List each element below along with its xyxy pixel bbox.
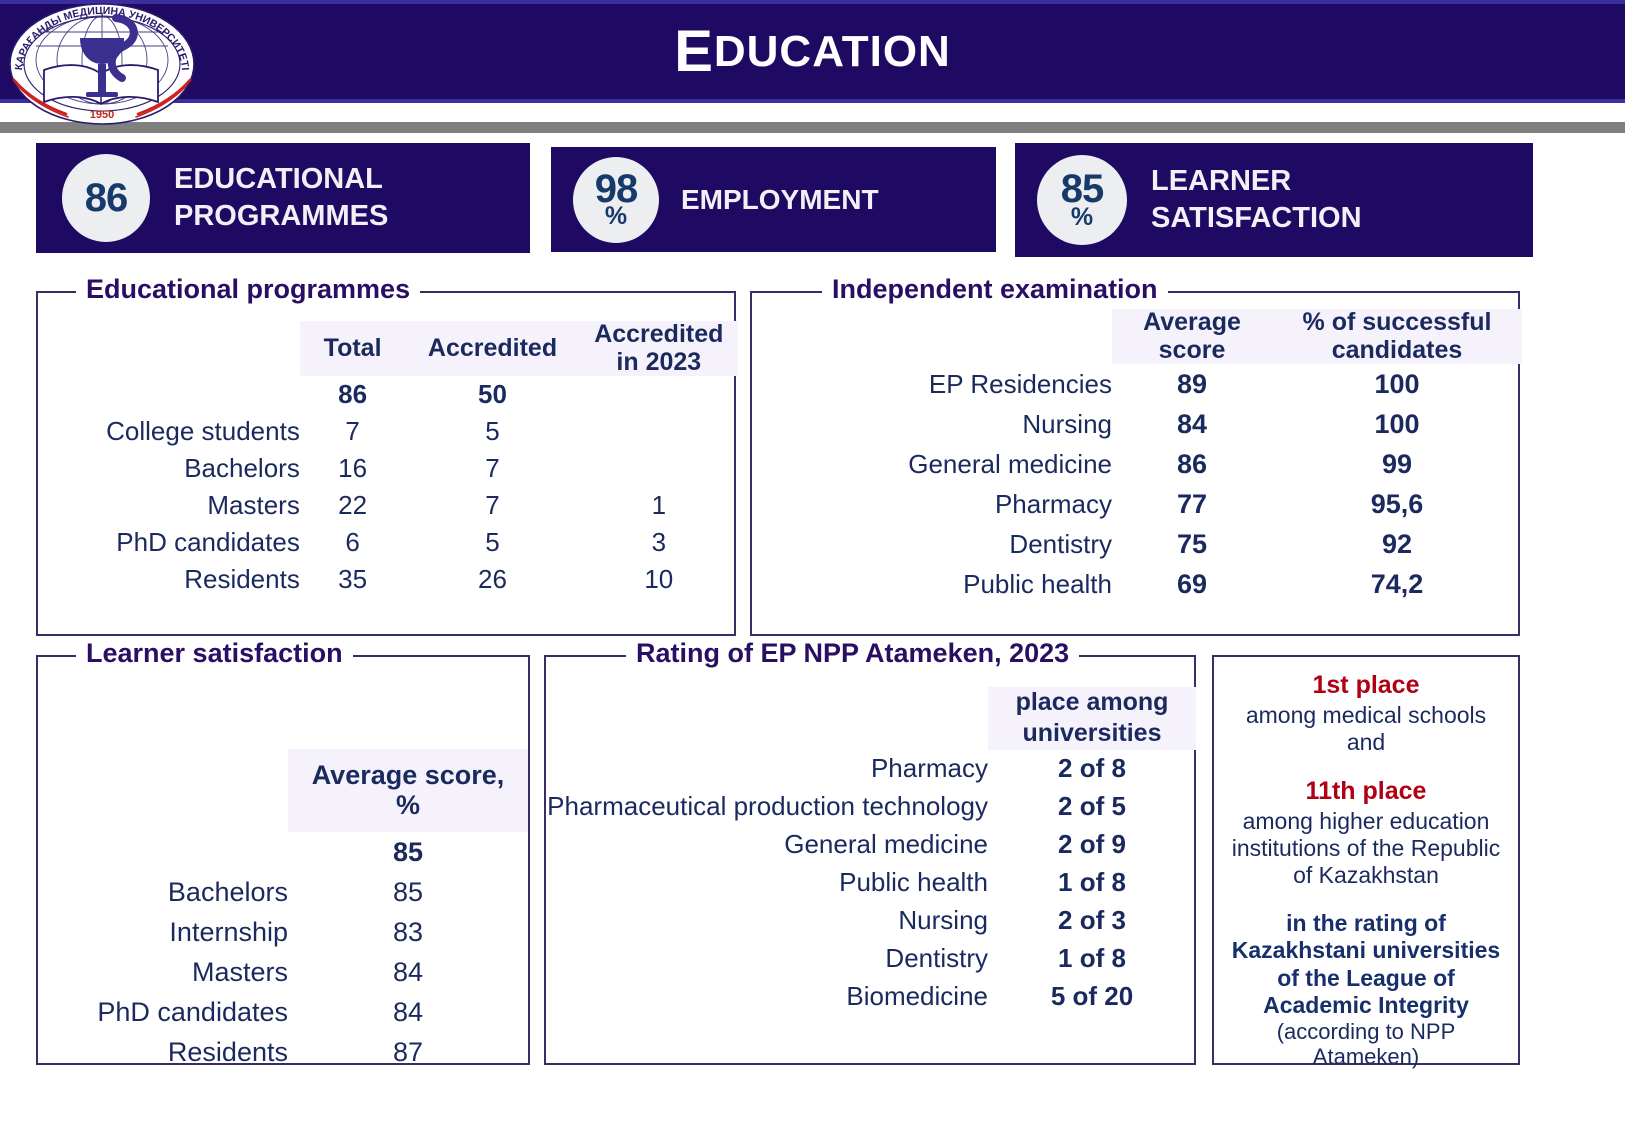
row-label: Bachelors [38,872,288,912]
cell-accredited: 7 [405,450,579,487]
row-label: Residents [38,1032,288,1072]
kpi-employment: 98 % EMPLOYMENT [551,147,996,252]
cell-place: 5 of 20 [988,978,1196,1016]
table-row-total: 86 50 [38,376,738,413]
kpi-label-line2: PROGRAMMES [174,198,388,235]
kpi-unit: % [1071,206,1093,229]
row-label: Public health [752,564,1112,604]
cell-place: 2 of 3 [988,902,1196,940]
header-place-line2: universities [988,718,1196,749]
table-row: PhD candidates 84 [38,992,528,1032]
table-row: General medicine 2 of 9 [546,826,1196,864]
rating-source-bold: in the rating of Kazakhstani universitie… [1224,910,1508,1019]
kpi-label-line1: EDUCATIONAL [174,161,388,198]
table-row: PhD candidates 6 5 3 [38,524,738,561]
row-label: Biomedicine [546,978,988,1016]
cell-pct-successful: 100 [1272,404,1522,444]
learner-satisfaction-table-wrap: Average score, % 85 Bachelors 85 Interns… [38,749,528,1072]
table-row: Biomedicine 5 of 20 [546,978,1196,1016]
cell-average-score: 69 [1112,564,1272,604]
eleventh-place-subtext: among higher education institutions of t… [1224,808,1508,888]
table-row: EP Residencies 89 100 [752,364,1522,404]
cell-average-score: 84 [1112,404,1272,444]
spacer [1224,888,1508,910]
header-place-line1: place among [988,687,1196,718]
first-place-subtext: among medical schools and [1224,702,1508,755]
independent-examination-table-wrap: Average score % of successful candidates… [752,309,1522,604]
header-average-score-line1: Average [1112,309,1272,337]
row-label: Pharmacy [752,484,1112,524]
cell-accredited: 7 [405,487,579,524]
cell-total: 22 [300,487,406,524]
row-label: Nursing [546,902,988,940]
rating-atameken-table-wrap: place among universities Pharmacy 2 of 8… [546,687,1196,1016]
kpi-educational-programmes: 86 EDUCATIONAL PROGRAMMES [36,143,530,253]
table-row: General medicine 86 99 [752,444,1522,484]
table-row: Bachelors 16 7 [38,450,738,487]
panel-ranking-awards: 1st place among medical schools and 11th… [1212,655,1520,1065]
table-header-row: place among universities [546,687,1196,750]
cell-total: 86 [300,376,406,413]
table-row: Internship 83 [38,912,528,952]
panel-title-independent-examination: Independent examination [822,274,1168,305]
table-row-total: 85 [38,832,528,872]
row-label: Internship [38,912,288,952]
row-label: PhD candidates [38,524,300,561]
kpi-label: EMPLOYMENT [681,182,879,218]
cell-accredited-2023 [580,450,738,487]
table-row: Public health 69 74,2 [752,564,1522,604]
header-average-score-line2: % [294,791,522,821]
row-label: Bachelors [38,450,300,487]
kpi-label-line1: EMPLOYMENT [681,182,879,218]
cell-accredited-2023: 3 [580,524,738,561]
cell-pct-successful: 92 [1272,524,1522,564]
table-row: Residents 87 [38,1032,528,1072]
table-row: Masters 22 7 1 [38,487,738,524]
row-label: Residents [38,561,300,598]
cell-accredited-2023 [580,376,738,413]
row-label: PhD candidates [38,992,288,1032]
header-pct-successful: % of successful candidates [1272,309,1522,364]
cell-accredited: 50 [405,376,579,413]
row-label: Masters [38,952,288,992]
header-accredited-2023: Accredited in 2023 [580,321,738,376]
first-place-heading: 1st place [1224,671,1508,700]
cell-accredited: 5 [405,524,579,561]
cell-accredited-2023 [580,413,738,450]
eleventh-place-heading: 11th place [1224,777,1508,806]
header-blank [38,749,288,832]
header-blank [546,687,988,750]
row-label: Pharmaceutical production technology [546,788,988,826]
header-total: Total [300,321,406,376]
university-logo: ҚАРАҒАНДЫ МЕДИЦИНА УНИВЕРСИТЕТІ 1950 [4,2,200,126]
panel-rating-atameken: Rating of EP NPP Atameken, 2023 place am… [544,655,1196,1065]
cell-average-score: 86 [1112,444,1272,484]
header-average-score: Average score [1112,309,1272,364]
kpi-value-circle: 86 [62,154,150,242]
cell-accredited-2023: 10 [580,561,738,598]
cell-average-score: 77 [1112,484,1272,524]
cell-accredited: 5 [405,413,579,450]
table-header-row: Average score % of successful candidates [752,309,1522,364]
row-label: EP Residencies [752,364,1112,404]
panel-educational-programmes: Educational programmes Total Accredited … [36,291,736,636]
row-label: Public health [546,864,988,902]
panel-learner-satisfaction: Learner satisfaction Average score, % 85… [36,655,530,1065]
logo-svg: ҚАРАҒАНДЫ МЕДИЦИНА УНИВЕРСИТЕТІ 1950 [4,2,200,126]
table-row: College students 7 5 [38,413,738,450]
cell-accredited: 26 [405,561,579,598]
cell-score: 84 [288,992,528,1032]
cell-average-score: 75 [1112,524,1272,564]
row-label [38,832,288,872]
table-row: Dentistry 75 92 [752,524,1522,564]
header-accredited-2023-line1: Accredited [580,321,738,349]
learner-satisfaction-table: Average score, % 85 Bachelors 85 Interns… [38,749,528,1072]
educational-programmes-table: Total Accredited Accredited in 2023 86 5… [38,321,738,598]
kpi-value: 86 [85,180,128,217]
table-row: Nursing 2 of 3 [546,902,1196,940]
header-accredited: Accredited [405,321,579,376]
panel-title-educational-programmes: Educational programmes [76,274,420,305]
row-label: College students [38,413,300,450]
row-label: Masters [38,487,300,524]
cell-place: 2 of 8 [988,750,1196,788]
table-row: Pharmacy 77 95,6 [752,484,1522,524]
table-row: Masters 84 [38,952,528,992]
row-label [38,376,300,413]
panel-independent-examination: Independent examination Average score % … [750,291,1520,636]
table-header-row: Total Accredited Accredited in 2023 [38,321,738,376]
kpi-label-line2: SATISFACTION [1151,200,1362,237]
cell-accredited-2023: 1 [580,487,738,524]
kpi-label: EDUCATIONAL PROGRAMMES [174,161,388,235]
header-pct-successful-line1: % of successful [1272,309,1522,337]
cell-average-score: 89 [1112,364,1272,404]
panel-title-rating-atameken: Rating of EP NPP Atameken, 2023 [626,638,1079,669]
rating-source-note: (according to NPP Atameken) [1224,1019,1508,1070]
cell-score: 84 [288,952,528,992]
table-row: Bachelors 85 [38,872,528,912]
educational-programmes-table-wrap: Total Accredited Accredited in 2023 86 5… [38,321,738,598]
header-accredited-2023-line2: in 2023 [580,349,738,377]
cell-place: 1 of 8 [988,940,1196,978]
kpi-label-line1: LEARNER [1151,163,1362,200]
ranking-awards-body: 1st place among medical schools and 11th… [1214,657,1518,1070]
row-label: Pharmacy [546,750,988,788]
header-average-score-pct: Average score, % [288,749,528,832]
row-label: General medicine [752,444,1112,484]
row-label: Dentistry [546,940,988,978]
table-header-row: Average score, % [38,749,528,832]
table-row: Pharmaceutical production technology 2 o… [546,788,1196,826]
header-blank [752,309,1112,364]
spacer [1224,755,1508,777]
cell-pct-successful: 95,6 [1272,484,1522,524]
kpi-value-circle: 85 % [1037,155,1127,245]
cell-score: 85 [288,832,528,872]
table-row: Pharmacy 2 of 8 [546,750,1196,788]
kpi-value-circle: 98 % [573,157,659,243]
page-title: EDUCATION [0,0,1625,103]
panel-title-learner-satisfaction: Learner satisfaction [76,638,353,669]
row-label: Dentistry [752,524,1112,564]
table-row: Public health 1 of 8 [546,864,1196,902]
cell-pct-successful: 74,2 [1272,564,1522,604]
cell-place: 2 of 9 [988,826,1196,864]
header-average-score-line1: Average score, [294,761,522,791]
independent-examination-table: Average score % of successful candidates… [752,309,1522,604]
cell-place: 1 of 8 [988,864,1196,902]
cell-total: 35 [300,561,406,598]
logo-year: 1950 [90,109,114,121]
table-row: Nursing 84 100 [752,404,1522,444]
cell-score: 83 [288,912,528,952]
row-label: Nursing [752,404,1112,444]
kpi-unit: % [605,205,627,228]
header-blank [38,321,300,376]
kpi-learner-satisfaction: 85 % LEARNER SATISFACTION [1015,143,1533,257]
table-row: Residents 35 26 10 [38,561,738,598]
cell-place: 2 of 5 [988,788,1196,826]
header-average-score-line2: score [1112,337,1272,365]
cell-score: 85 [288,872,528,912]
cell-total: 6 [300,524,406,561]
cell-pct-successful: 99 [1272,444,1522,484]
header-divider-bar [0,122,1625,133]
kpi-label: LEARNER SATISFACTION [1151,163,1362,237]
rating-atameken-table: place among universities Pharmacy 2 of 8… [546,687,1196,1016]
header-pct-successful-line2: candidates [1272,337,1522,365]
cell-pct-successful: 100 [1272,364,1522,404]
cell-score: 87 [288,1032,528,1072]
row-label: General medicine [546,826,988,864]
header-place-among-universities: place among universities [988,687,1196,750]
cell-total: 7 [300,413,406,450]
table-row: Dentistry 1 of 8 [546,940,1196,978]
cell-total: 16 [300,450,406,487]
